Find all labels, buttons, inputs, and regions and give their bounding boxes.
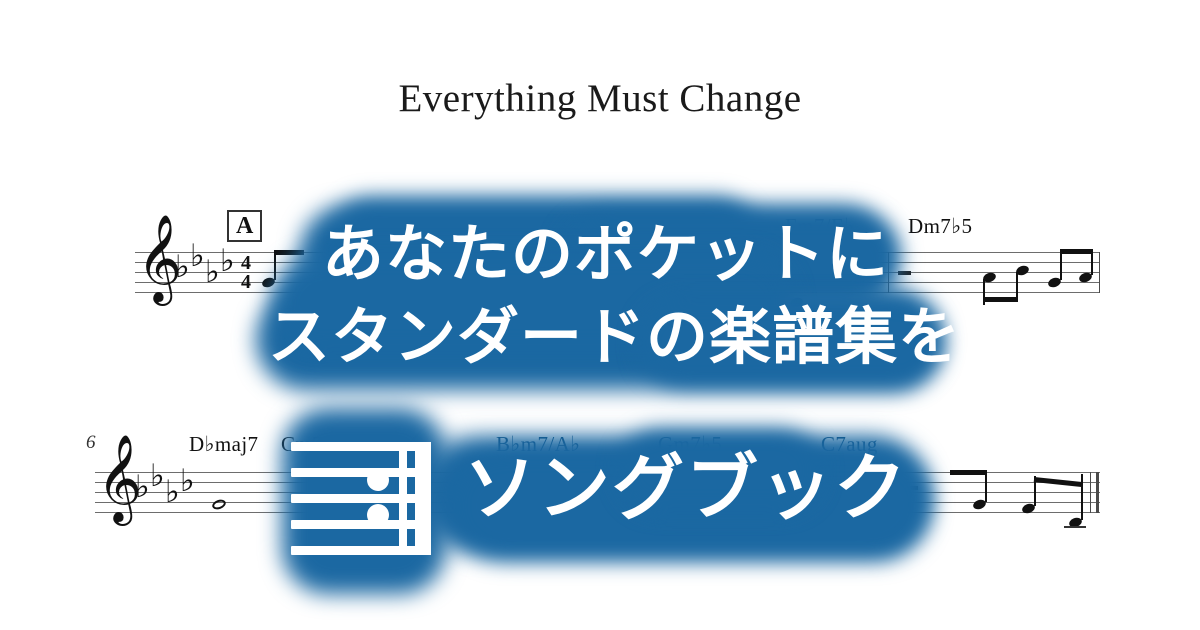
screenshot-canvas: Everything Must Change 𝄞 ♭ ♭ ♭ ♭ 4 4 A bbox=[0, 0, 1200, 630]
key-signature-flat: ♭ bbox=[135, 472, 150, 503]
barline bbox=[1099, 252, 1100, 293]
logo-staff-line bbox=[291, 494, 431, 503]
key-signature-flat: ♭ bbox=[205, 257, 220, 288]
bar-number: 6 bbox=[86, 432, 96, 454]
barline bbox=[1090, 472, 1091, 513]
key-signature-flat: ♭ bbox=[175, 252, 190, 283]
logo-staff-line bbox=[291, 442, 431, 451]
logo-note-dot bbox=[367, 504, 389, 526]
beam bbox=[950, 470, 986, 475]
logo-barline-thin bbox=[399, 442, 407, 555]
rehearsal-mark-a: A bbox=[227, 210, 262, 242]
logo-barline-thick bbox=[415, 442, 431, 555]
overlay-headline-line-1: あなたのポケットに bbox=[322, 221, 889, 287]
beam bbox=[1060, 249, 1093, 254]
key-signature-flat: ♭ bbox=[190, 241, 205, 272]
rest-symbol bbox=[898, 271, 911, 275]
final-barline bbox=[1096, 472, 1099, 513]
logo-staff-line bbox=[291, 468, 431, 477]
key-signature-flat: ♭ bbox=[220, 246, 235, 277]
chord-symbol: Dm7♭5 bbox=[908, 214, 972, 239]
songbook-logo-icon bbox=[291, 442, 431, 562]
beam bbox=[983, 297, 1018, 302]
overlay-headline-line-2: スタンダードの楽譜集を bbox=[268, 304, 961, 370]
key-signature-flat: ♭ bbox=[150, 461, 165, 492]
key-signature-flat: ♭ bbox=[165, 477, 180, 508]
key-signature-flat: ♭ bbox=[180, 466, 195, 497]
chord-symbol: D♭maj7 bbox=[189, 432, 258, 457]
page-title: Everything Must Change bbox=[0, 76, 1200, 121]
logo-staff-line bbox=[291, 546, 431, 555]
time-signature-denominator: 4 bbox=[238, 273, 254, 292]
overlay-brand-name: ソングブック bbox=[464, 449, 908, 527]
logo-staff-line bbox=[291, 520, 431, 529]
logo-note-dot bbox=[367, 469, 389, 491]
